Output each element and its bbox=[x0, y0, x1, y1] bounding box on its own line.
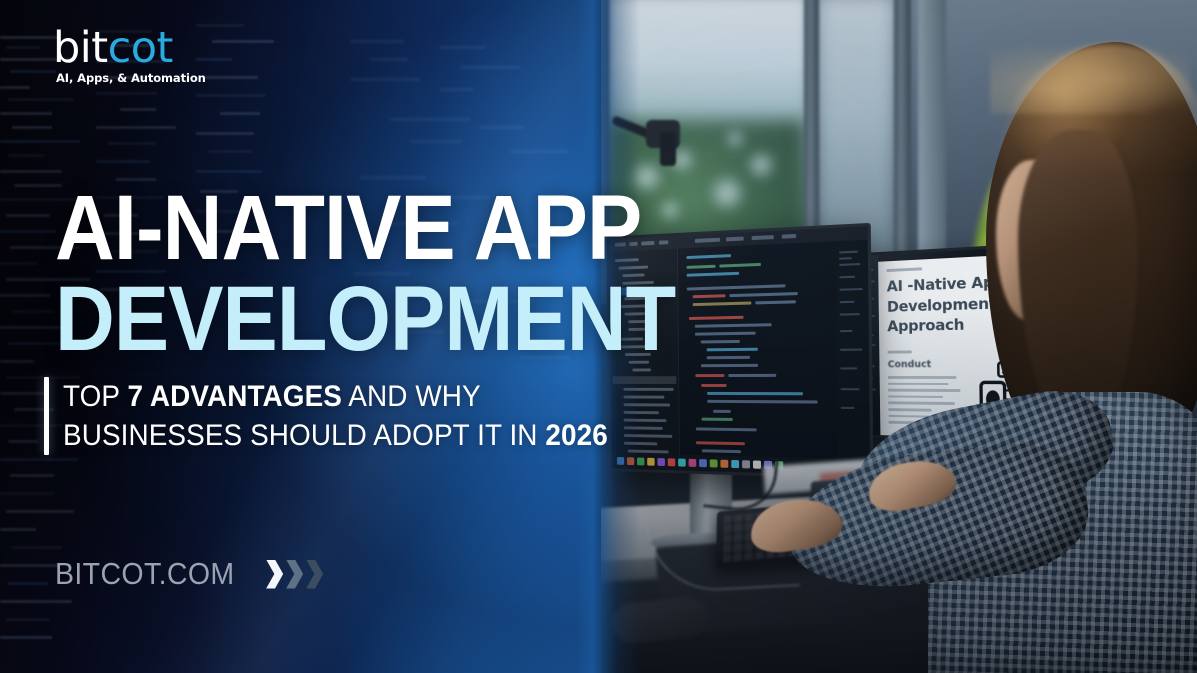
bokeh-light bbox=[748, 152, 774, 178]
website-url-block[interactable]: BITCOT.COM bbox=[55, 556, 323, 592]
bitcot-logo[interactable]: bitcot AI, Apps, & Automation bbox=[53, 26, 206, 85]
marketing-banner: AI -Native App Development Approach Cond… bbox=[0, 0, 1197, 673]
chevron-right-icon bbox=[306, 560, 323, 589]
monitor-arm-clamp bbox=[660, 132, 676, 166]
bokeh-light bbox=[726, 130, 744, 148]
subheadline-text: TOP 7 ADVANTAGES AND WHY BUSINESSES SHOU… bbox=[63, 377, 608, 455]
subheadline-part-1: TOP bbox=[63, 380, 127, 413]
headline-line-1: AI-NATIVE APP bbox=[55, 185, 675, 272]
headline-line-2: DEVELOPMENT bbox=[55, 276, 675, 363]
logo-wordmark: bitcot bbox=[53, 26, 206, 70]
subheadline-highlight-1: 7 ADVANTAGES bbox=[127, 380, 342, 413]
accent-bar bbox=[44, 377, 49, 455]
subheadline-part-3: BUSINESSES SHOULD ADOPT IT IN bbox=[63, 419, 545, 452]
logo-tagline: AI, Apps, & Automation bbox=[56, 71, 206, 85]
logo-text-cot: cot bbox=[108, 23, 173, 73]
chevron-right-icon bbox=[286, 560, 303, 589]
person-hair-flyaways bbox=[990, 34, 1190, 114]
website-url-text: BITCOT.COM bbox=[55, 556, 235, 592]
headline-block: AI-NATIVE APP DEVELOPMENT bbox=[55, 185, 744, 364]
subheadline-row-1: TOP 7 ADVANTAGES AND WHY bbox=[63, 377, 608, 416]
logo-text-bit: bit bbox=[53, 23, 108, 73]
subheadline-row-2: BUSINESSES SHOULD ADOPT IT IN 2026 bbox=[63, 416, 608, 455]
subheadline-block: TOP 7 ADVANTAGES AND WHY BUSINESSES SHOU… bbox=[44, 377, 649, 455]
chevron-right-icon bbox=[266, 560, 283, 589]
subheadline-part-2: AND WHY bbox=[342, 380, 481, 413]
chevron-group bbox=[266, 560, 323, 589]
subheadline-highlight-2: 2026 bbox=[545, 419, 607, 452]
